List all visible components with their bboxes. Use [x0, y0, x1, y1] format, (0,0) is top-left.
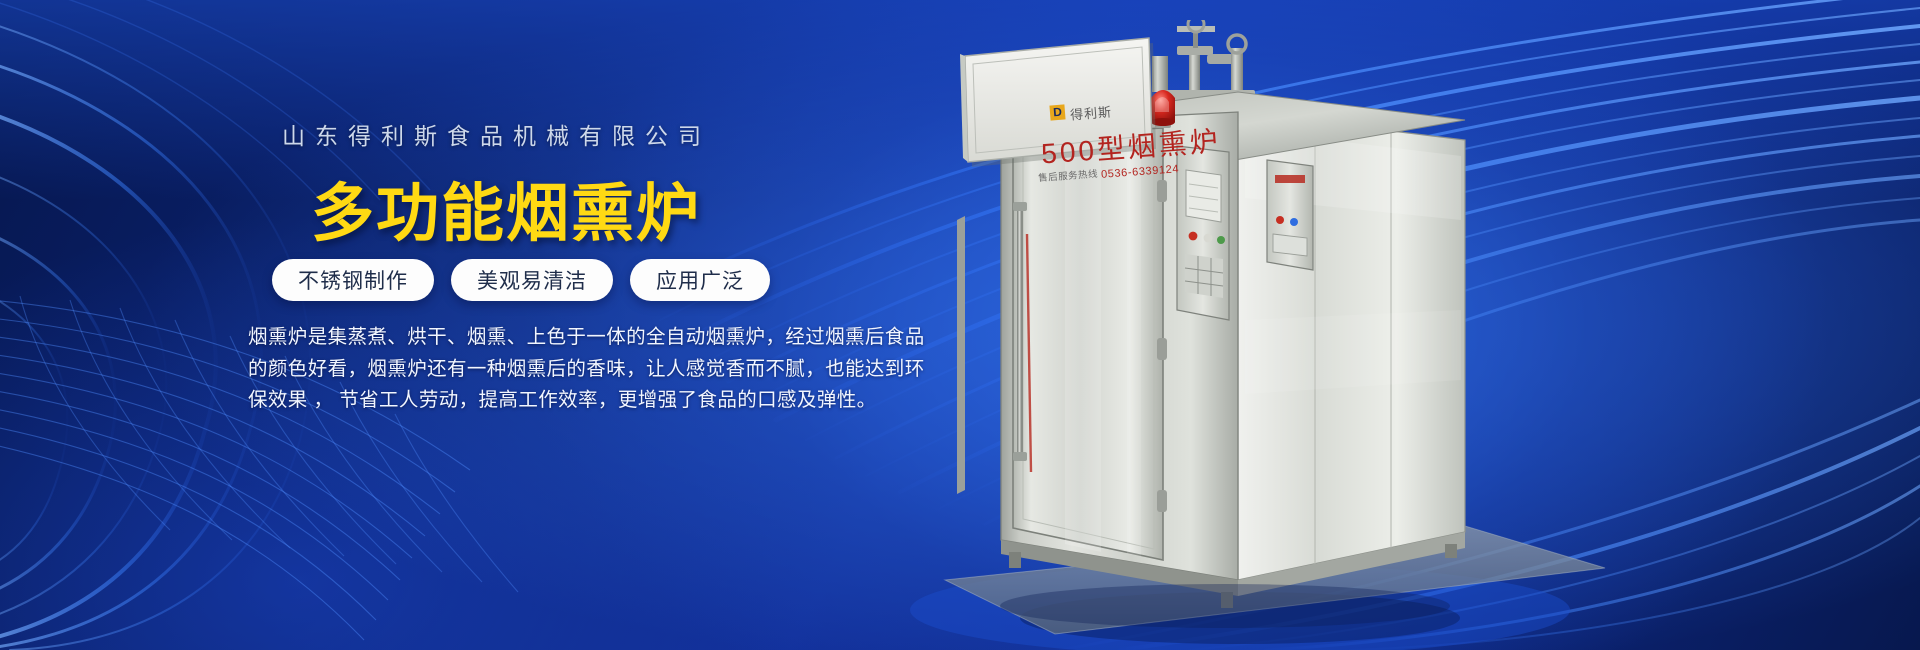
- feature-pill-easy-clean[interactable]: 美观易清洁: [451, 259, 613, 301]
- description-line-2: 的颜色好看，烟熏炉还有一种烟熏后的香味，让人感觉香而不腻，也能达到环: [248, 354, 823, 386]
- promo-banner: 山东得利斯食品机械有限公司 多功能烟熏炉 不锈钢制作 美观易清洁 应用广泛 烟熏…: [0, 0, 1920, 650]
- description-line-3: 保效果 ， 节省工人劳动，提高工作效率，更增强了食品的口感及弹性。: [248, 385, 823, 417]
- cabinet-foot: [1009, 552, 1021, 568]
- electrical-box-lamp-red: [1276, 216, 1284, 224]
- indicator-lamp-green: [1217, 236, 1225, 244]
- nameplate-brand: 得利斯: [1069, 101, 1112, 123]
- product-description: 烟熏炉是集蒸煮、烘干、烟熏、上色于一体的全自动烟熏炉，经过烟熏后食品 的颜色好看…: [248, 322, 823, 417]
- feature-pill-row: 不锈钢制作 美观易清洁 应用广泛: [272, 259, 770, 301]
- description-line-1: 烟熏炉是集蒸煮、烘干、烟熏、上色于一体的全自动烟熏炉，经过烟熏后食品: [248, 322, 823, 354]
- control-panel-keypad: [1185, 254, 1223, 298]
- feature-pill-wide-use[interactable]: 应用广泛: [630, 259, 770, 301]
- control-panel-main: [1177, 146, 1229, 320]
- product-photo-smokehouse-oven: D 得利斯 500型烟熏炉 售后服务热线 0536-6339124: [905, 20, 1905, 650]
- electrical-box-lamp-blue: [1290, 218, 1298, 226]
- oven-door: [1013, 128, 1167, 560]
- electrical-box-warning-label: [1275, 175, 1305, 183]
- nameplate-logo-mark: D: [1049, 104, 1065, 120]
- electrical-box: [1267, 160, 1313, 270]
- feature-pill-stainless[interactable]: 不锈钢制作: [272, 259, 434, 301]
- indicator-lamp-red: [1189, 232, 1198, 241]
- banner-text-block: 山东得利斯食品机械有限公司 多功能烟熏炉 不锈钢制作 美观易清洁 应用广泛 烟熏…: [0, 0, 860, 650]
- indicator-lamp-white: [1204, 234, 1213, 243]
- cabinet-foot: [1445, 544, 1457, 558]
- page-title: 多功能烟熏炉: [311, 163, 701, 254]
- company-name: 山东得利斯食品机械有限公司: [282, 117, 711, 151]
